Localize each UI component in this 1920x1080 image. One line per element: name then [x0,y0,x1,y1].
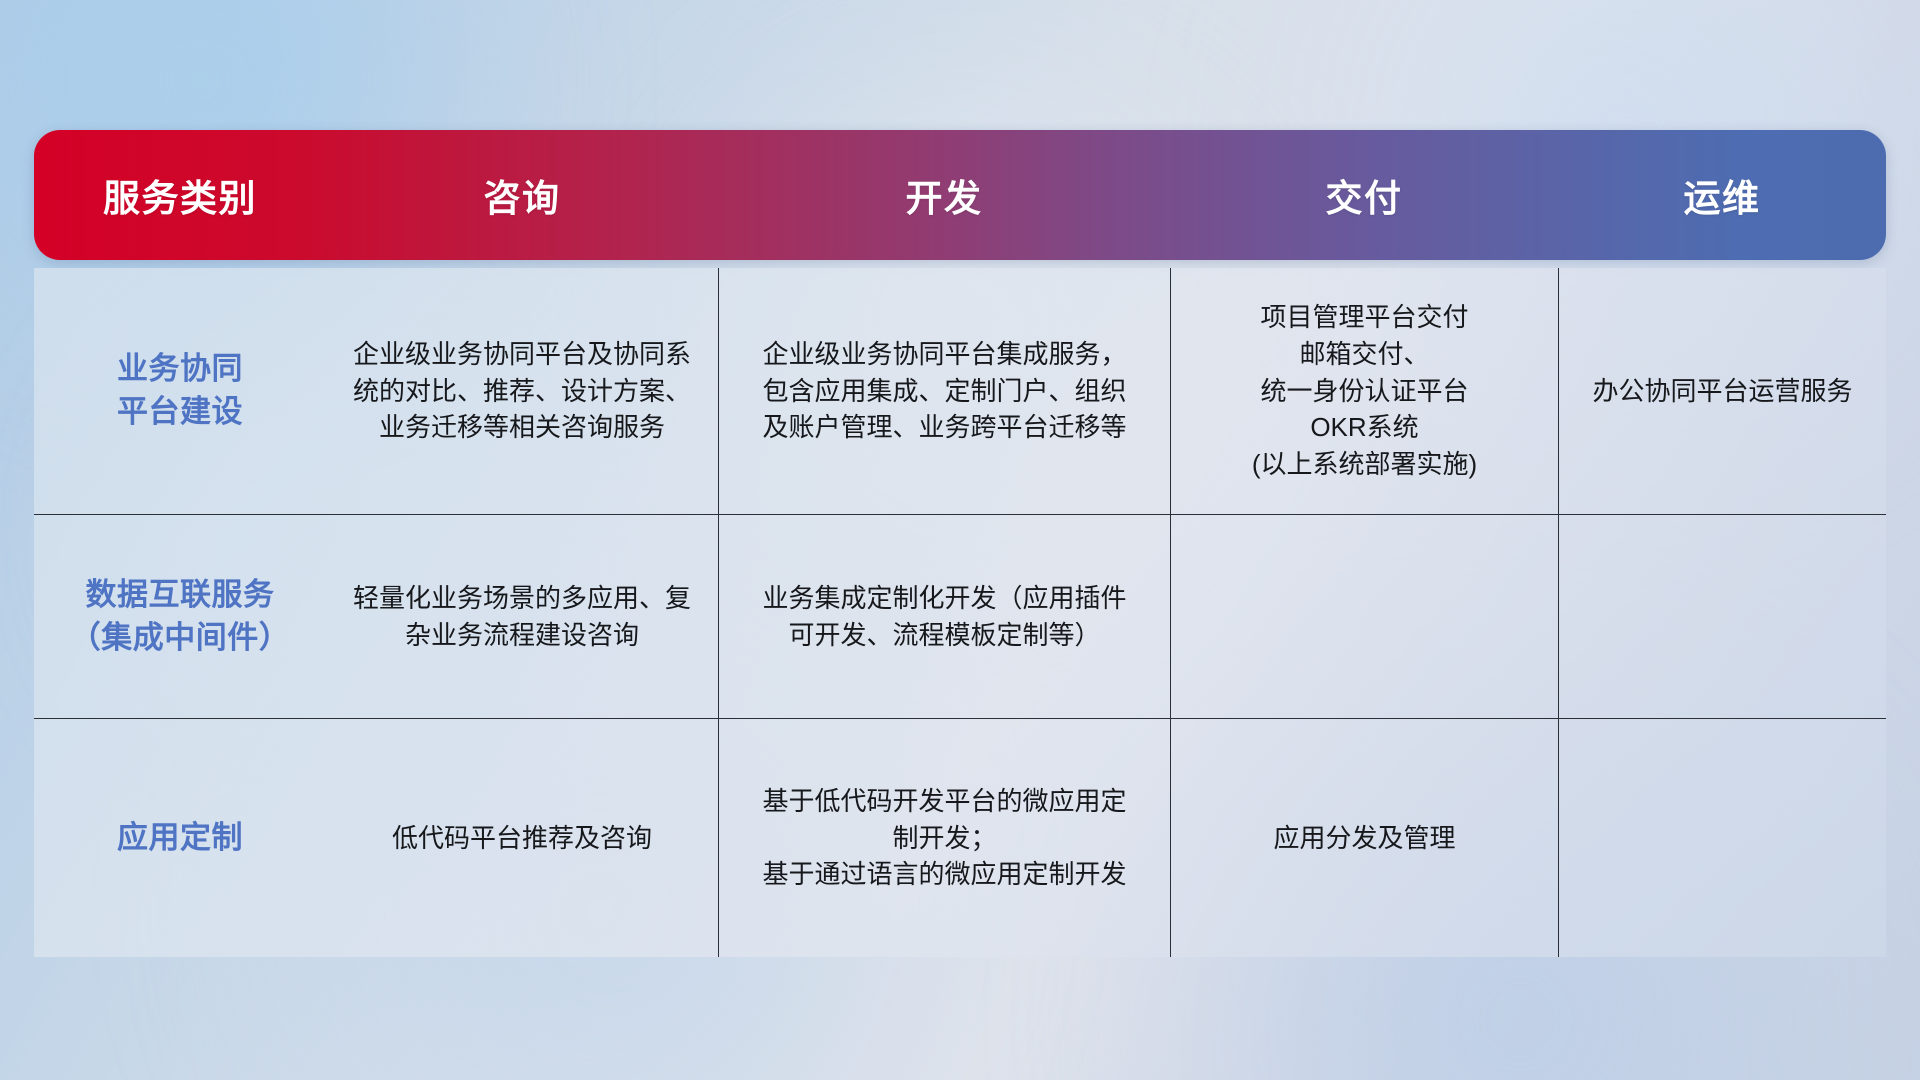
column-header-delivery: 交付 [1170,130,1558,260]
cell-delivery: 应用分发及管理 [1170,719,1558,957]
cell-delivery [1170,515,1558,718]
table-body: 业务协同 平台建设 企业级业务协同平台及协同系 统的对比、推荐、设计方案、 业务… [34,268,1886,957]
table-row: 应用定制 低代码平台推荐及咨询 基于低代码开发平台的微应用定 制开发； 基于通过… [34,719,1886,957]
cell-development: 业务集成定制化开发（应用插件 可开发、流程模板定制等） [718,515,1170,718]
cell-delivery: 项目管理平台交付 邮箱交付、 统一身份认证平台 OKR系统 (以上系统部署实施) [1170,268,1558,514]
cell-category: 数据互联服务 （集成中间件） [34,515,326,718]
column-header-operations: 运维 [1558,130,1886,260]
cell-operations: 办公协同平台运营服务 [1558,268,1886,514]
cell-consulting: 轻量化业务场景的多应用、复 杂业务流程建设咨询 [326,515,718,718]
cell-operations [1558,515,1886,718]
table-row: 数据互联服务 （集成中间件） 轻量化业务场景的多应用、复 杂业务流程建设咨询 业… [34,515,1886,719]
table-header-row: 服务类别 咨询 开发 交付 运维 [34,130,1886,260]
cell-operations [1558,719,1886,957]
cell-consulting: 企业级业务协同平台及协同系 统的对比、推荐、设计方案、 业务迁移等相关咨询服务 [326,268,718,514]
cell-development: 基于低代码开发平台的微应用定 制开发； 基于通过语言的微应用定制开发 [718,719,1170,957]
column-header-category: 服务类别 [34,130,326,260]
cell-category: 业务协同 平台建设 [34,268,326,514]
service-matrix-table: 服务类别 咨询 开发 交付 运维 业务协同 平台建设 企业级业务协同平台及协同系… [34,130,1886,957]
cell-development: 企业级业务协同平台集成服务， 包含应用集成、定制门户、组织 及账户管理、业务跨平… [718,268,1170,514]
column-header-consulting: 咨询 [326,130,718,260]
column-header-development: 开发 [718,130,1170,260]
cell-consulting: 低代码平台推荐及咨询 [326,719,718,957]
table-row: 业务协同 平台建设 企业级业务协同平台及协同系 统的对比、推荐、设计方案、 业务… [34,268,1886,515]
cell-category: 应用定制 [34,719,326,957]
